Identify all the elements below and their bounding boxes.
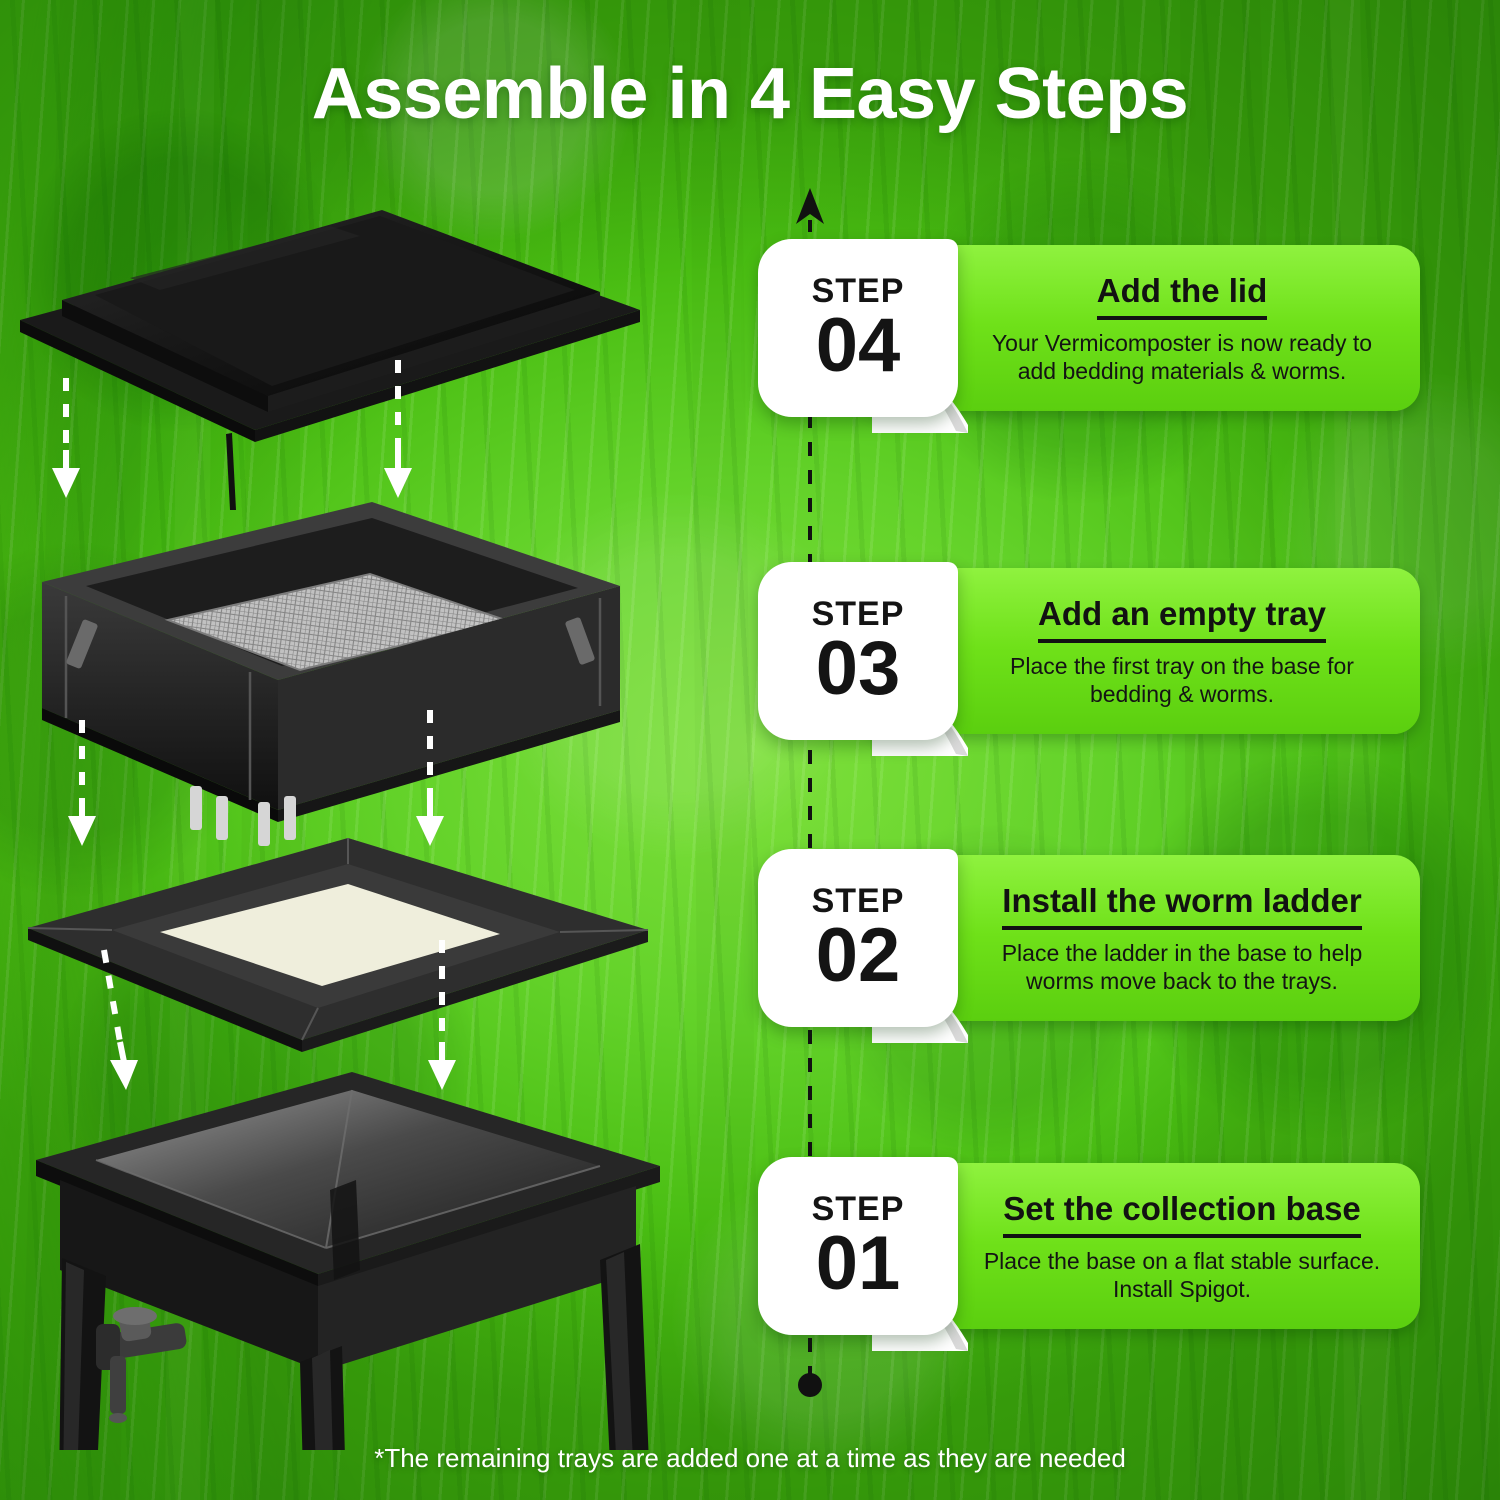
step-description: Place the ladder in the base to help wor… [970, 939, 1394, 997]
step-card-01[interactable]: Set the collection base Place the base o… [740, 1163, 1420, 1329]
footnote: *The remaining trays are added one at a … [0, 1443, 1500, 1474]
step-badge: STEP 01 [758, 1157, 958, 1335]
timeline-dot-icon [798, 1373, 822, 1397]
diagram-spigot [96, 1307, 188, 1423]
step-badge-number: 03 [816, 633, 901, 705]
page-title: Assemble in 4 Easy Steps [0, 58, 1500, 130]
step-headline: Set the collection base [1003, 1192, 1361, 1238]
diagram-part-collection-base [36, 1072, 666, 1450]
timeline-arrow-icon [796, 188, 824, 224]
step-badge-number: 04 [816, 310, 901, 382]
assembly-arrowhead [110, 1060, 456, 1090]
step-headline: Install the worm ladder [1002, 884, 1361, 930]
step-badge: STEP 04 [758, 239, 958, 417]
step-description: Your Vermicomposter is now ready to add … [970, 329, 1394, 387]
vermicomposter-exploded-diagram [0, 150, 740, 1450]
step-card-04[interactable]: Add the lid Your Vermicomposter is now r… [740, 245, 1420, 411]
step-badge-number: 01 [816, 1228, 901, 1300]
step-badge: STEP 02 [758, 849, 958, 1027]
diagram-part-tray [42, 502, 620, 846]
step-card-03[interactable]: Add an empty tray Place the first tray o… [740, 568, 1420, 734]
step-headline: Add an empty tray [1038, 597, 1326, 643]
assembly-arrowhead [68, 816, 444, 846]
diagram-part-lid [20, 210, 640, 510]
step-badge: STEP 03 [758, 562, 958, 740]
step-card-02[interactable]: Install the worm ladder Place the ladder… [740, 855, 1420, 1021]
step-description: Place the first tray on the base for bed… [970, 652, 1394, 710]
diagram-part-worm-ladder [28, 838, 648, 1052]
step-headline: Add the lid [1097, 274, 1267, 320]
step-badge-number: 02 [816, 920, 901, 992]
step-description: Place the base on a flat stable surface.… [970, 1247, 1394, 1305]
